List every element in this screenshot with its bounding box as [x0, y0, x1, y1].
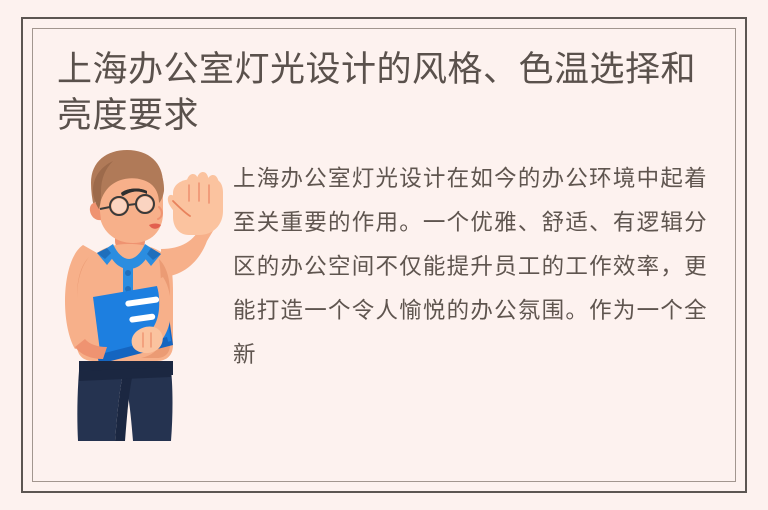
article-content: 上海办公室灯光设计的风格、色温选择和亮度要求 — [33, 29, 735, 481]
page-title: 上海办公室灯光设计的风格、色温选择和亮度要求 — [57, 47, 711, 139]
article-card: 上海办公室灯光设计的风格、色温选择和亮度要求 — [21, 17, 747, 493]
article-body-row: 上海办公室灯光设计在如今的办公环境中起着至关重要的作用。一个优雅、舒适、有逻辑分… — [57, 149, 711, 449]
man-waving-holding-book-illustration — [63, 149, 223, 445]
article-card-inner-border: 上海办公室灯光设计的风格、色温选择和亮度要求 — [32, 28, 736, 482]
article-body-text: 上海办公室灯光设计在如今的办公环境中起着至关重要的作用。一个优雅、舒适、有逻辑分… — [233, 157, 707, 377]
paragraph-column: 上海办公室灯光设计在如今的办公环境中起着至关重要的作用。一个优雅、舒适、有逻辑分… — [233, 149, 711, 377]
illustration-column — [57, 149, 233, 449]
pants — [77, 361, 173, 441]
waving-hand — [168, 172, 223, 235]
